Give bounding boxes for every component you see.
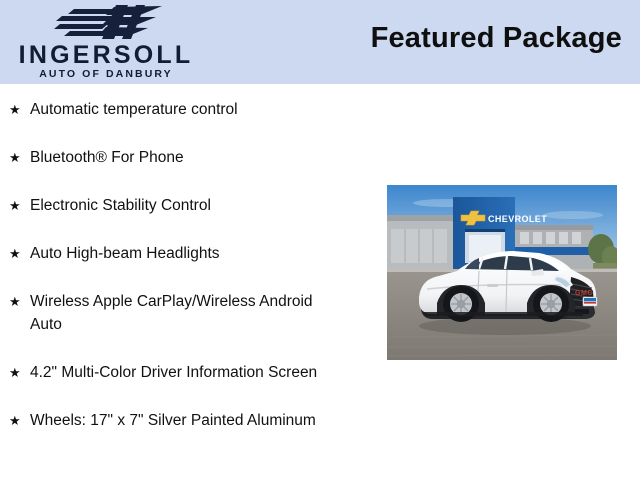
list-item: ★ Auto High-beam Headlights xyxy=(0,242,330,265)
brand-name: INGERSOLL xyxy=(8,42,204,68)
star-icon: ★ xyxy=(9,242,21,265)
brand-tagline: AUTO OF DANBURY xyxy=(8,68,204,80)
vehicle-photo: CHEVROLET xyxy=(387,185,617,360)
list-item: ★ Wheels: 17" x 7" Silver Painted Alumin… xyxy=(0,409,330,432)
page-title: Featured Package xyxy=(371,22,622,55)
feature-label: Wheels: 17" x 7" Silver Painted Aluminum xyxy=(30,412,316,429)
star-icon: ★ xyxy=(9,194,21,217)
list-item: ★ Automatic temperature control xyxy=(0,98,330,121)
star-icon: ★ xyxy=(9,146,21,169)
list-item: ★ Wireless Apple CarPlay/Wireless Androi… xyxy=(0,290,330,336)
star-icon: ★ xyxy=(9,361,21,384)
feature-label: 4.2" Multi-Color Driver Information Scre… xyxy=(30,364,317,381)
list-item: ★ Electronic Stability Control xyxy=(0,194,330,217)
list-item: ★ 4.2" Multi-Color Driver Information Sc… xyxy=(0,361,330,384)
dealer-branding: INGERSOLL AUTO OF DANBURY xyxy=(0,0,210,84)
feature-label: Auto High-beam Headlights xyxy=(30,245,220,262)
feature-label: Automatic temperature control xyxy=(30,101,238,118)
feature-label: Bluetooth® For Phone xyxy=(30,149,184,166)
star-icon: ★ xyxy=(9,290,21,313)
list-item: ★ Bluetooth® For Phone xyxy=(0,146,330,169)
star-icon: ★ xyxy=(9,409,21,432)
dealer-sign-text: CHEVROLET xyxy=(488,214,547,224)
feature-label: Electronic Stability Control xyxy=(30,197,211,214)
page-header: INGERSOLL AUTO OF DANBURY Featured Packa… xyxy=(0,0,640,84)
feature-label: Wireless Apple CarPlay/Wireless Android … xyxy=(30,293,313,333)
vehicle-badge-text: GMC xyxy=(575,290,593,297)
ingersoll-winged-emblem-icon xyxy=(44,2,184,42)
feature-list: ★ Automatic temperature control ★ Blueto… xyxy=(0,84,360,457)
star-icon: ★ xyxy=(9,98,21,121)
